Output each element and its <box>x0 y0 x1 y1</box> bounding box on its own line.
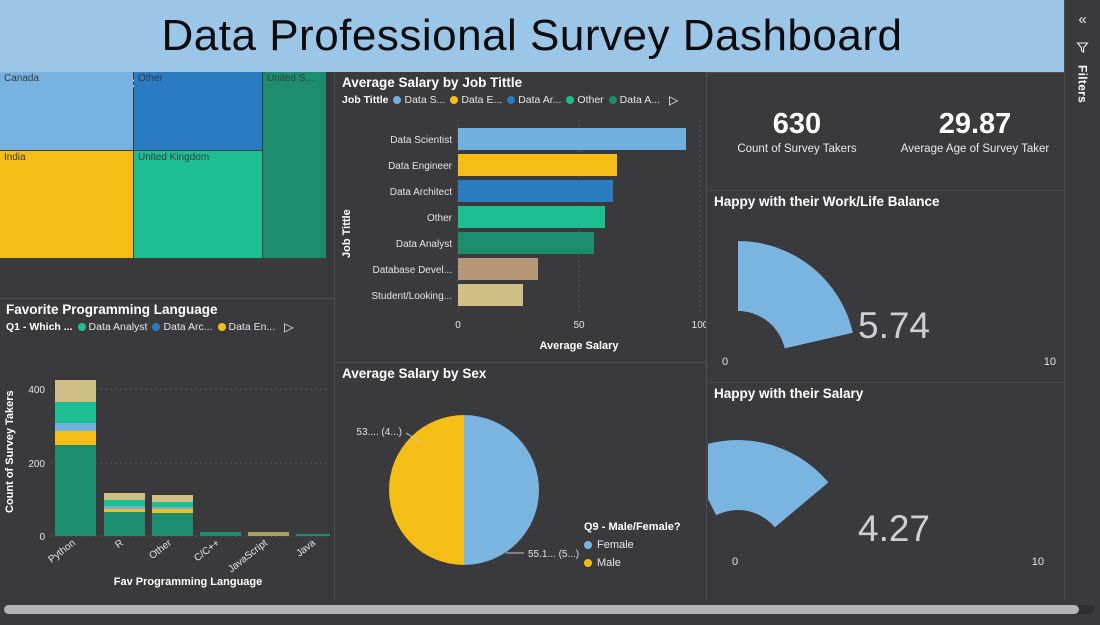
legend-item[interactable]: Other <box>566 94 603 106</box>
legend-item[interactable]: Female <box>584 539 704 551</box>
gauge-arc[interactable]: 0 10 <box>708 213 1064 381</box>
legend-swatch <box>78 323 86 331</box>
legend-item-label: Data En... <box>229 321 276 333</box>
category-label: Database Devel... <box>373 265 453 276</box>
bar <box>458 128 686 150</box>
kpi-value: 29.87 <box>886 109 1064 139</box>
filters-pane-label: Filters <box>1076 65 1090 103</box>
gauge-value-arc <box>738 241 853 348</box>
category-label: Data Architect <box>390 187 452 198</box>
stacked-bar-java[interactable] <box>296 534 330 536</box>
report-header-banner: Data Professional Survey Dashboard <box>0 0 1064 72</box>
legend-item-label: Data S... <box>404 94 445 106</box>
stacked-bar-cpp[interactable] <box>200 532 241 536</box>
visual-title: Average Salary by Sex <box>336 363 706 383</box>
bar-segment <box>104 493 145 500</box>
category-label: Other <box>427 213 453 224</box>
average-salary-by-job-tittle-visual[interactable]: Average Salary by Job Tittle Job Tittle … <box>336 72 706 362</box>
legend-item[interactable]: Male <box>584 557 704 569</box>
bar <box>458 206 605 228</box>
category-label: Data Scientist <box>390 135 452 146</box>
report-canvas: Survey Takers by Country Canada Other Un… <box>0 72 1064 600</box>
stacked-bar-other[interactable] <box>152 495 193 536</box>
stacked-bar-python[interactable] <box>55 380 96 536</box>
bar-segment <box>152 507 193 509</box>
legend-swatch <box>450 96 458 104</box>
bar-segment <box>200 532 241 536</box>
bar-segment <box>248 532 289 536</box>
bar-other[interactable]: Other <box>427 206 605 228</box>
treemap-cell-label: India <box>4 152 26 163</box>
treemap-cell[interactable]: Canada <box>0 72 133 150</box>
legend-swatch <box>218 323 226 331</box>
gauge-happy-with-salary-visual[interactable]: Happy with their Salary 0 10 4.27 <box>708 383 1064 583</box>
bar-database-developer[interactable]: Database Devel... <box>373 258 539 280</box>
x-tick: Python <box>47 538 78 566</box>
chart-legend[interactable]: Q1 - Which ... Data Analyst Data Arc... … <box>0 319 334 335</box>
expand-legend-icon[interactable]: ▷ <box>284 320 293 334</box>
y-tick: 200 <box>28 459 45 470</box>
legend-swatch <box>609 96 617 104</box>
panel-divider <box>334 72 335 600</box>
legend-item-label: Data A... <box>620 94 660 106</box>
bar-data-engineer[interactable]: Data Engineer <box>388 154 617 176</box>
panel-divider <box>706 72 707 600</box>
treemap-cell[interactable]: United S... <box>263 72 326 258</box>
x-tick: JavaScript <box>226 538 270 576</box>
treemap-cell[interactable]: India <box>0 151 133 258</box>
power-bi-report-canvas: Data Professional Survey Dashboard « Fil… <box>0 0 1100 625</box>
legend-title: Q9 - Male/Female? <box>584 521 704 533</box>
legend-swatch <box>152 323 160 331</box>
bar-segment <box>152 495 193 502</box>
bar-segment <box>55 402 96 423</box>
treemap-cell[interactable]: Other <box>134 72 262 150</box>
gauge-arc[interactable]: 0 10 <box>708 405 1064 583</box>
treemap-cell-label: Other <box>138 73 163 84</box>
bar-data-architect[interactable]: Data Architect <box>390 180 613 202</box>
x-tick: 50 <box>573 320 585 331</box>
y-axis-title: Job Tittle <box>341 209 353 258</box>
legend-item-label: Data Arc... <box>163 321 212 333</box>
legend-item-label: Data Ar... <box>518 94 561 106</box>
favorite-programming-language-visual[interactable]: Favorite Programming Language Q1 - Which… <box>0 299 334 600</box>
legend-item[interactable]: Data Analyst <box>78 321 148 333</box>
bar-data-scientist[interactable]: Data Scientist <box>390 128 686 150</box>
kpi-label: Average Age of Survey Taker <box>886 143 1064 155</box>
stacked-bar-r[interactable] <box>104 493 145 536</box>
treemap-plot[interactable]: Canada Other United S... India United Ki… <box>0 92 326 209</box>
double-chevron-left-icon[interactable]: « <box>1072 8 1092 31</box>
gauge-min-label: 0 <box>722 356 728 368</box>
x-tick: R <box>113 538 125 551</box>
pie-slice-female <box>464 415 539 565</box>
pie-label-female: 55.1... (5...) <box>528 549 579 560</box>
pie-label-male: 53.... (4...) <box>356 427 402 438</box>
bar <box>458 180 613 202</box>
bar-segment <box>55 423 96 431</box>
legend-item[interactable]: Data S... <box>393 94 445 106</box>
visual-title: Favorite Programming Language <box>0 299 334 319</box>
bar-segment <box>152 513 193 536</box>
gauge-min-label: 0 <box>732 556 738 568</box>
treemap-cell[interactable]: United Kingdom <box>134 151 262 258</box>
stacked-bar-javascript[interactable] <box>248 532 289 536</box>
x-tick: 100 <box>692 320 706 331</box>
legend-swatch <box>566 96 574 104</box>
gauge-max-label: 10 <box>1044 356 1056 368</box>
legend-item-label: Data Analyst <box>89 321 148 333</box>
x-tick: 0 <box>455 320 461 331</box>
chart-legend[interactable]: Job Tittle Data S... Data E... Data Ar..… <box>336 92 706 108</box>
legend-item-label: Male <box>597 557 621 569</box>
visual-title: Happy with their Salary <box>708 383 1064 403</box>
bar <box>458 258 538 280</box>
bar-segment <box>55 431 96 445</box>
gauge-value: 5.74 <box>858 305 930 347</box>
visual-title: Average Salary by Job Tittle <box>336 72 706 92</box>
kpi-card-average-age-of-survey-taker[interactable]: 29.87 Average Age of Survey Taker <box>886 76 1064 188</box>
filter-funnel-icon[interactable] <box>1076 41 1089 59</box>
legend-item[interactable]: Data E... <box>450 94 502 106</box>
bar <box>458 284 523 306</box>
scrollbar-thumb[interactable] <box>4 605 1079 614</box>
gauge-value-arc <box>708 405 836 549</box>
kpi-label: Count of Survey Takers <box>708 143 886 155</box>
filters-pane-collapsed[interactable]: « Filters <box>1064 0 1100 600</box>
pie-legend[interactable]: Q9 - Male/Female? Female Male <box>584 521 704 569</box>
bar-segment <box>152 509 193 513</box>
legend-swatch <box>507 96 515 104</box>
bar-segment <box>104 512 145 536</box>
y-tick: 400 <box>28 385 45 396</box>
bar-segment <box>296 534 330 536</box>
treemap-cell-label: United S... <box>267 73 314 84</box>
legend-title: Q1 - Which ... <box>6 321 73 333</box>
horizontal-bar-chart[interactable]: Job Tittle Data Scientist Data Engineer … <box>336 108 706 358</box>
treemap-cell-label: United Kingdom <box>138 152 209 163</box>
bar-segment <box>104 500 145 506</box>
category-label: Data Engineer <box>388 161 453 172</box>
bar-segment <box>152 502 193 507</box>
x-tick: Other <box>147 537 174 561</box>
y-tick: 0 <box>39 532 45 543</box>
x-tick: C/C++ <box>192 538 222 565</box>
legend-item-label: Female <box>597 539 634 551</box>
legend-swatch <box>584 559 592 567</box>
category-label: Student/Looking... <box>371 291 452 302</box>
legend-swatch <box>584 541 592 549</box>
kpi-value: 630 <box>708 109 886 139</box>
page-title: Data Professional Survey Dashboard <box>162 14 903 58</box>
bar <box>458 232 594 254</box>
bar <box>458 154 617 176</box>
bar-segment <box>104 506 145 509</box>
bar-data-analyst[interactable]: Data Analyst <box>396 232 594 254</box>
legend-item[interactable]: Data A... <box>609 94 660 106</box>
pie-chart[interactable]: 53.... (4...) 55.1... (5...) <box>336 385 596 590</box>
bar-segment <box>104 509 145 512</box>
legend-item[interactable]: Data Arc... <box>152 321 212 333</box>
category-label: Data Analyst <box>396 239 452 250</box>
y-axis-title: Count of Survey Takers <box>4 390 16 513</box>
bar-segment <box>55 445 96 536</box>
expand-legend-icon[interactable]: ▷ <box>669 93 678 107</box>
legend-swatch <box>393 96 401 104</box>
horizontal-scrollbar[interactable] <box>0 600 1100 625</box>
stacked-column-chart[interactable]: Count of Survey Takers 400 200 0 <box>0 335 334 590</box>
x-tick: Java <box>294 537 318 559</box>
gauge-max-label: 10 <box>1032 556 1044 568</box>
x-axis-title: Fav Programming Language <box>114 576 263 588</box>
gauge-work-life-balance-visual[interactable]: Happy with their Work/Life Balance 0 10 … <box>708 191 1064 381</box>
legend-item-label: Other <box>577 94 603 106</box>
legend-title: Job Tittle <box>342 94 388 106</box>
x-axis-title: Average Salary <box>539 340 619 352</box>
legend-item[interactable]: Data En... <box>218 321 276 333</box>
legend-item[interactable]: Data Ar... <box>507 94 561 106</box>
treemap-cell-label: Canada <box>4 73 39 84</box>
legend-item-label: Data E... <box>461 94 502 106</box>
gauge-value: 4.27 <box>858 508 930 550</box>
survey-takers-by-country-visual[interactable]: Survey Takers by Country Canada Other Un… <box>0 72 334 298</box>
bar-segment <box>55 380 96 402</box>
average-salary-by-sex-visual[interactable]: Average Salary by Sex 53.... (4...) 55.1… <box>336 363 706 600</box>
bar-student-looking[interactable]: Student/Looking... <box>371 284 523 306</box>
visual-title: Happy with their Work/Life Balance <box>708 191 1064 211</box>
kpi-card-count-of-survey-takers[interactable]: 630 Count of Survey Takers <box>708 76 886 188</box>
